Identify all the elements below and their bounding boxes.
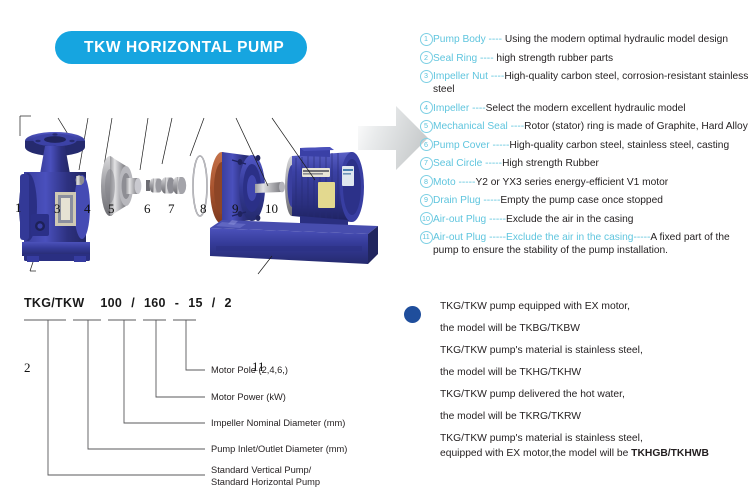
callout-7: 7 bbox=[168, 202, 175, 215]
legend-separator: ---- bbox=[508, 121, 524, 132]
notes-body: TKG/TKW pump equipped with EX motor, the… bbox=[440, 300, 754, 460]
callout-3: 3 bbox=[54, 202, 61, 215]
legend-description-highlight: Exclude the air in the casing----- bbox=[506, 232, 650, 243]
legend-number-badge: 2 bbox=[419, 52, 433, 63]
legend-text: Mechanical Seal ----Rotor (stator) ring … bbox=[433, 120, 753, 133]
legend-text: Impeller Nut ----High-quality carbon ste… bbox=[433, 70, 753, 96]
legend-number-badge: 4 bbox=[419, 102, 433, 113]
legend-part-name: Air-out Plug bbox=[433, 232, 486, 243]
legend-item: 9 Drain Plug -----Empty the pump case on… bbox=[419, 194, 753, 207]
legend-item: 1 Pump Body ---- Using the modern optima… bbox=[419, 33, 753, 46]
callout-8: 8 bbox=[200, 202, 207, 215]
legend-number-badge: 10 bbox=[419, 213, 433, 224]
legend-part-name: Seal Ring bbox=[433, 53, 477, 64]
legend-number-badge: 6 bbox=[419, 139, 433, 150]
page-title: TKW HORIZONTAL PUMP bbox=[84, 39, 284, 57]
note-line: the model will be TKHG/TKHW bbox=[440, 366, 754, 379]
label-inlet-outlet-diameter: Pump Inlet/Outlet Diameter (mm) bbox=[211, 443, 347, 455]
legend-separator: ---- bbox=[477, 53, 496, 64]
legend-description: Rotor (stator) ring is made of Graphite,… bbox=[524, 121, 748, 132]
legend-separator: ---- bbox=[469, 103, 485, 114]
legend-description: Select the modern excellent hydraulic mo… bbox=[486, 103, 686, 114]
pump-illustration bbox=[0, 96, 400, 286]
label-motor-power: Motor Power (kW) bbox=[211, 391, 286, 403]
legend-part-name: Pump Cover bbox=[433, 140, 490, 151]
parts-legend-list: 1 Pump Body ---- Using the modern optima… bbox=[419, 33, 753, 263]
note-line: TKG/TKW pump's material is stainless ste… bbox=[440, 432, 754, 445]
legend-item: 2 Seal Ring ---- high strength rubber pa… bbox=[419, 52, 753, 65]
legend-separator: ---- bbox=[486, 34, 505, 45]
legend-separator: ---- bbox=[488, 71, 504, 82]
legend-part-name: Impeller bbox=[433, 103, 469, 114]
legend-part-name: Mechanical Seal bbox=[433, 121, 508, 132]
legend-part-name: Drain Plug bbox=[433, 195, 481, 206]
label-standard-pump-line2: Standard Horizontal Pump bbox=[211, 476, 320, 488]
legend-item: 6 Pump Cover -----High-quality carbon st… bbox=[419, 139, 753, 152]
legend-text: Seal Ring ---- high strength rubber part… bbox=[433, 52, 753, 65]
legend-number-badge: 3 bbox=[419, 71, 433, 82]
legend-item: 11 Air-out Plug -----Exclude the air in … bbox=[419, 231, 753, 257]
legend-description: Using the modern optimal hydraulic model… bbox=[505, 34, 728, 45]
legend-separator: ----- bbox=[486, 232, 506, 243]
legend-item: 8 Moto -----Y2 or YX3 series energy-effi… bbox=[419, 176, 753, 189]
legend-item: 4 Impeller ----Select the modern excelle… bbox=[419, 102, 753, 115]
legend-item: 10 Air-out Plug -----Exclude the air in … bbox=[419, 213, 753, 226]
legend-text: Air-out Plug -----Exclude the air in the… bbox=[433, 213, 753, 226]
legend-item: 7 Seal Circle -----High strength Rubber bbox=[419, 157, 753, 170]
legend-text: Impeller ----Select the modern excellent… bbox=[433, 102, 753, 115]
note-line-final: equipped with EX motor,the model will be… bbox=[440, 447, 754, 460]
legend-text: Pump Body ---- Using the modern optimal … bbox=[433, 33, 753, 46]
note-line: TKG/TKW pump delivered the hot water, bbox=[440, 388, 754, 401]
callout-5: 5 bbox=[108, 202, 115, 215]
callout-1: 1 bbox=[15, 201, 22, 214]
legend-item: 5 Mechanical Seal ----Rotor (stator) rin… bbox=[419, 120, 753, 133]
legend-part-name: Air-out Plug bbox=[433, 214, 486, 225]
legend-description: Empty the pump case once stopped bbox=[500, 195, 663, 206]
note-line: TKG/TKW pump equipped with EX motor, bbox=[440, 300, 754, 313]
legend-description: Y2 or YX3 series energy-efficient V1 mot… bbox=[475, 177, 668, 188]
legend-separator: ----- bbox=[456, 177, 476, 188]
legend-part-name: Impeller Nut bbox=[433, 71, 488, 82]
exploded-pump-diagram: 1 2 3 4 5 6 7 8 9 10 11 bbox=[0, 96, 400, 286]
legend-text: Pump Cover -----High-quality carbon stee… bbox=[433, 139, 753, 152]
legend-text: Air-out Plug -----Exclude the air in the… bbox=[433, 231, 753, 257]
note-line: the model will be TKBG/TKBW bbox=[440, 322, 754, 335]
callout-10: 10 bbox=[265, 202, 278, 215]
legend-description: Exclude the air in the casing bbox=[506, 214, 633, 225]
legend-text: Moto -----Y2 or YX3 series energy-effici… bbox=[433, 176, 753, 189]
legend-separator: ----- bbox=[481, 195, 501, 206]
label-standard-pump-line1: Standard Vertical Pump/ bbox=[211, 464, 311, 476]
legend-text: Seal Circle -----High strength Rubber bbox=[433, 157, 753, 170]
bullet-dot-icon bbox=[404, 306, 421, 323]
legend-separator: ----- bbox=[482, 158, 502, 169]
model-variant-notes: TKG/TKW pump equipped with EX motor, the… bbox=[404, 300, 754, 469]
legend-number-badge: 8 bbox=[419, 176, 433, 187]
note-model-code: TKHGB/TKHWB bbox=[631, 448, 709, 459]
note-line-text: equipped with EX motor,the model will be bbox=[440, 448, 631, 459]
note-line: TKG/TKW pump's material is stainless ste… bbox=[440, 344, 754, 357]
legend-number-badge: 9 bbox=[419, 195, 433, 206]
model-code-leader-lines bbox=[0, 292, 400, 500]
legend-number-badge: 7 bbox=[419, 158, 433, 169]
legend-number-badge: 5 bbox=[419, 121, 433, 132]
legend-separator: ----- bbox=[486, 214, 506, 225]
label-motor-pole: Motor Pole (2,4,6,) bbox=[211, 364, 288, 376]
legend-item: 3 Impeller Nut ----High-quality carbon s… bbox=[419, 70, 753, 96]
callout-6: 6 bbox=[144, 202, 151, 215]
legend-number-badge: 1 bbox=[419, 34, 433, 45]
legend-description: High strength Rubber bbox=[502, 158, 599, 169]
legend-part-name: Moto bbox=[433, 177, 456, 188]
legend-part-name: Pump Body bbox=[433, 34, 486, 45]
callout-4: 4 bbox=[84, 202, 91, 215]
legend-number-badge: 11 bbox=[419, 232, 433, 243]
callout-9: 9 bbox=[232, 202, 239, 215]
label-impeller-diameter: Impeller Nominal Diameter (mm) bbox=[211, 417, 345, 429]
page-title-banner: TKW HORIZONTAL PUMP bbox=[55, 31, 307, 64]
page-root: TKW HORIZONTAL PUMP bbox=[0, 0, 756, 500]
legend-separator: ----- bbox=[490, 140, 510, 151]
legend-description: High-quality carbon steel, stainless ste… bbox=[509, 140, 729, 151]
legend-description: high strength rubber parts bbox=[496, 53, 613, 64]
note-line: the model will be TKRG/TKRW bbox=[440, 410, 754, 423]
model-code-breakdown: TKG/TKW100/160-15/2 bbox=[0, 292, 400, 500]
legend-part-name: Seal Circle bbox=[433, 158, 482, 169]
legend-text: Drain Plug -----Empty the pump case once… bbox=[433, 194, 753, 207]
